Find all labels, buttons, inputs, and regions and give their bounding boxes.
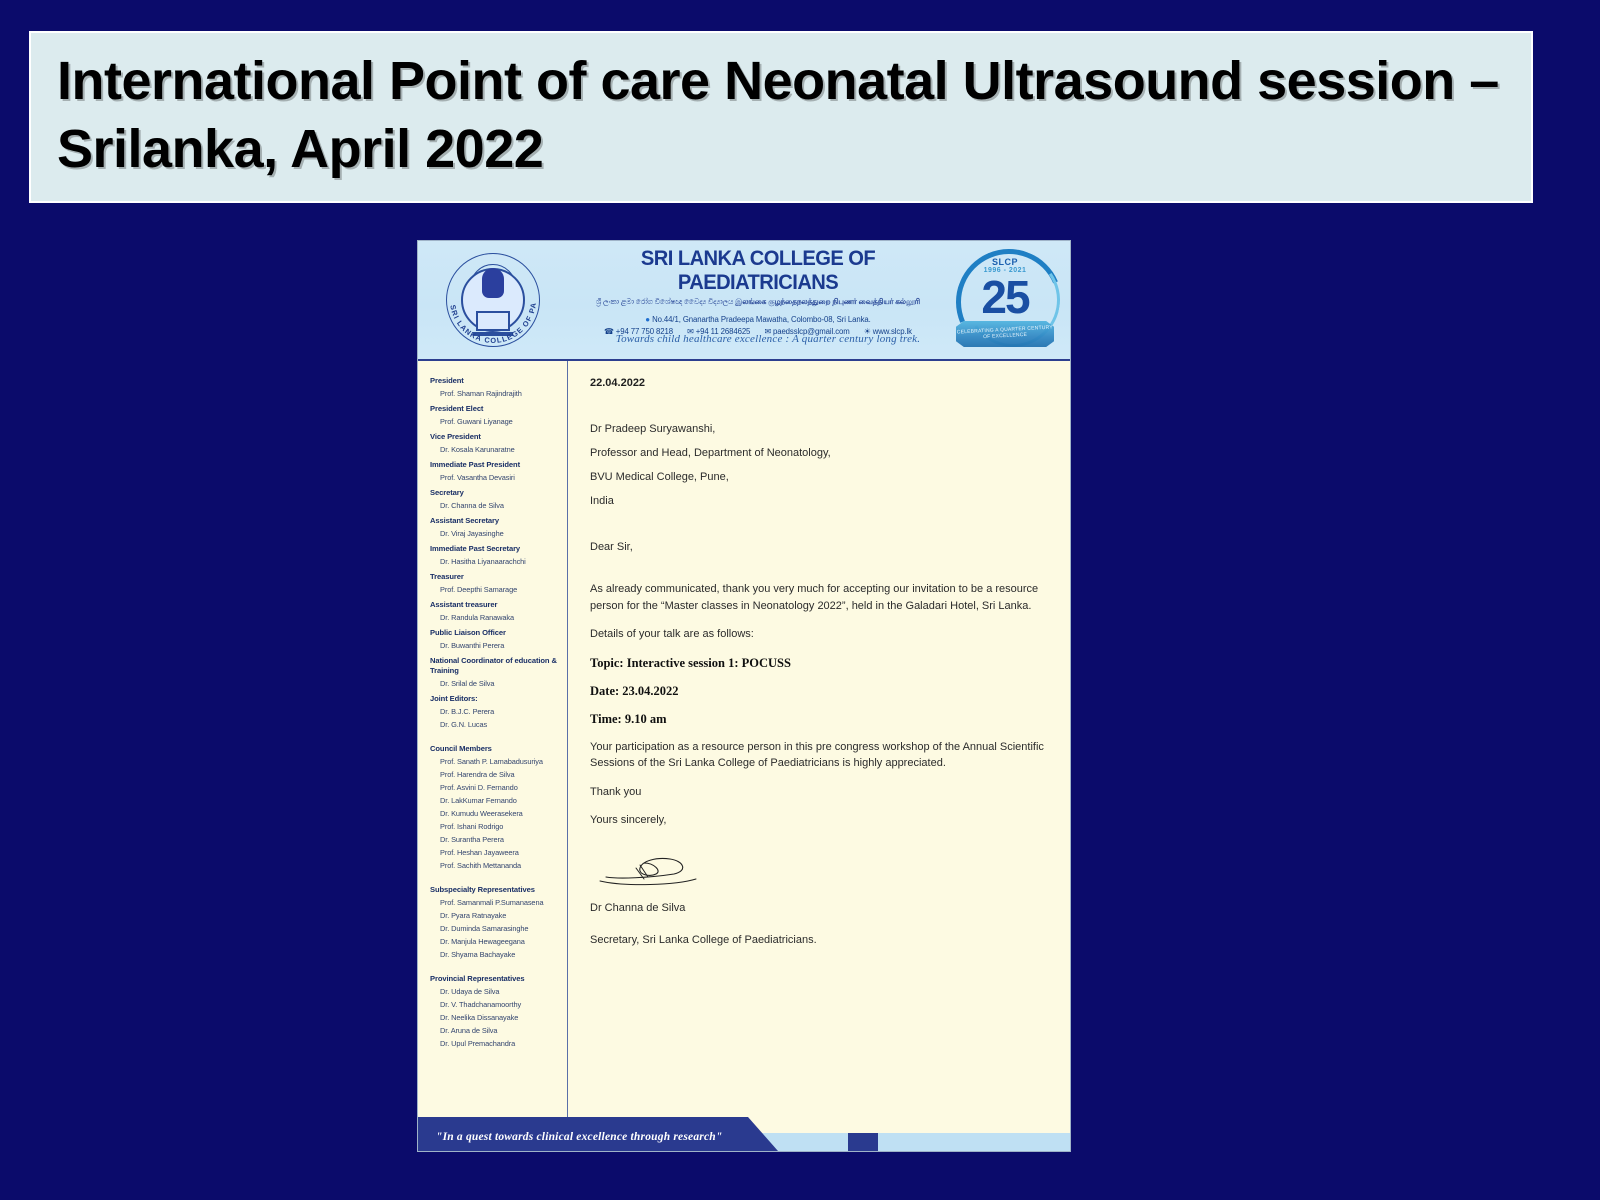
joint-editors-title: Joint Editors:: [430, 694, 561, 704]
letter-salutation: Dear Sir,: [590, 535, 1044, 559]
officer-entry: National Coordinator of education & Trai…: [430, 656, 561, 689]
office-bearers-sidebar: President Prof. Shaman Rajindrajith Pres…: [418, 361, 568, 1129]
council-member-name: Prof. Sanath P. Lamabadusuriya: [430, 757, 561, 767]
signature-image: [590, 841, 1044, 895]
provincial-representative-name: Dr. Udaya de Silva: [430, 987, 561, 997]
officer-entry: President Prof. Shaman Rajindrajith: [430, 376, 561, 399]
officer-role: Public Liaison Officer: [430, 628, 561, 638]
address-text: No.44/1, Gnanartha Pradeepa Mawatha, Col…: [652, 315, 871, 324]
officer-role: Immediate Past Secretary: [430, 544, 561, 554]
letterhead-tagline: Towards child healthcare excellence : A …: [568, 333, 968, 345]
officer-entry: Treasurer Prof. Deepthi Samarage: [430, 572, 561, 595]
council-member-name: Prof. Harendra de Silva: [430, 770, 561, 780]
officer-role: Immediate Past President: [430, 460, 561, 470]
footer-accent-square: [848, 1133, 878, 1151]
officer-name: Dr. Randula Ranawaka: [430, 613, 561, 623]
officer-name: Dr. Channa de Silva: [430, 501, 561, 511]
officer-entry: Assistant Secretary Dr. Viraj Jayasinghe: [430, 516, 561, 539]
council-member-name: Prof. Ishani Rodrigo: [430, 822, 561, 832]
provincial-representative-name: Dr. Neelika Dissanayake: [430, 1013, 561, 1023]
college-emblem-icon: SRI LANKA COLLEGE OF PAEDIATRICIANS: [440, 247, 546, 353]
officer-entry: President Elect Prof. Guwani Liyanage: [430, 404, 561, 427]
officer-entry: Immediate Past Secretary Dr. Hasitha Liy…: [430, 544, 561, 567]
addressee-line: BVU Medical College, Pune,: [590, 465, 1044, 489]
officer-role: National Coordinator of education & Trai…: [430, 656, 561, 676]
letter-document: SRI LANKA COLLEGE OF PAEDIATRICIANS SRI …: [418, 241, 1070, 1151]
joint-editor-name: Dr. B.J.C. Perera: [430, 707, 561, 717]
slide-title-bar: International Point of care Neonatal Ult…: [29, 31, 1533, 203]
letter-body: President Prof. Shaman Rajindrajith Pres…: [418, 361, 1070, 1129]
provincial-representative-name: Dr. Aruna de Silva: [430, 1026, 561, 1036]
council-member-name: Prof. Asvini D. Fernando: [430, 783, 561, 793]
letter-thanks: Thank you: [590, 784, 1044, 801]
subspecialty-representative-name: Dr. Pyara Ratnayake: [430, 911, 561, 921]
addressee-line: Professor and Head, Department of Neonat…: [590, 441, 1044, 465]
officer-role: President: [430, 376, 561, 386]
letterhead-header: SRI LANKA COLLEGE OF PAEDIATRICIANS SRI …: [418, 241, 1070, 361]
signatory-name: Dr Channa de Silva: [590, 899, 1044, 917]
officer-name: Dr. Kosala Karunaratne: [430, 445, 561, 455]
signatory-title: Secretary, Sri Lanka College of Paediatr…: [590, 931, 1044, 949]
officer-name: Dr. Hasitha Liyanaarachchi: [430, 557, 561, 567]
addressee-line: Dr Pradeep Suryawanshi,: [590, 417, 1044, 441]
provincial-representatives-title: Provincial Representatives: [430, 974, 561, 984]
council-member-name: Dr. Surantha Perera: [430, 835, 561, 845]
org-name-native: ශ්‍රී ලංකා ළමා රෝග විශේෂඥ වෛද්‍ය විද්‍යා…: [568, 297, 948, 307]
letter-paragraph-1: As already communicated, thank you very …: [590, 581, 1044, 614]
officer-entry: Vice President Dr. Kosala Karunaratne: [430, 432, 561, 455]
officer-entry: Secretary Dr. Channa de Silva: [430, 488, 561, 511]
emblem-circular-text: SRI LANKA COLLEGE OF PAEDIATRICIANS: [440, 247, 546, 353]
officer-name: Dr. Viraj Jayasinghe: [430, 529, 561, 539]
addressee-line: India: [590, 489, 1044, 513]
officer-entry: Public Liaison Officer Dr. Buwanthi Pere…: [430, 628, 561, 651]
letter-content: 22.04.2022 Dr Pradeep Suryawanshi, Profe…: [568, 361, 1070, 1129]
subspecialty-representative-name: Dr. Manjula Hewageegana: [430, 937, 561, 947]
officer-entry: Assistant treasurer Dr. Randula Ranawaka: [430, 600, 561, 623]
letterhead-org-block: SRI LANKA COLLEGE OF PAEDIATRICIANS ශ්‍ර…: [568, 247, 948, 336]
svg-text:SRI LANKA COLLEGE OF PAEDIATRI: SRI LANKA COLLEGE OF PAEDIATRICIANS: [440, 247, 538, 345]
officer-name: Dr. Buwanthi Perera: [430, 641, 561, 651]
org-name-sinhala: ශ්‍රී ලංකා ළමා රෝග විශේෂඥ වෛද්‍ය විද්‍යා…: [596, 297, 733, 306]
footer-quote: "In a quest towards clinical excellence …: [436, 1131, 722, 1143]
letter-footer: "In a quest towards clinical excellence …: [418, 1117, 1070, 1151]
letter-closing: Yours sincerely,: [590, 812, 1044, 829]
page-title: International Point of care Neonatal Ult…: [57, 47, 1505, 183]
joint-editor-name: Dr. G.N. Lucas: [430, 720, 561, 730]
officer-role: Assistant treasurer: [430, 600, 561, 610]
officer-name: Prof. Deepthi Samarage: [430, 585, 561, 595]
talk-time: Time: 9.10 am: [590, 711, 1044, 727]
officer-name: Prof. Guwani Liyanage: [430, 417, 561, 427]
officer-role: Treasurer: [430, 572, 561, 582]
subspecialty-representatives-title: Subspecialty Representatives: [430, 885, 561, 895]
subspecialty-representative-name: Dr. Shyama Bachayake: [430, 950, 561, 960]
talk-date: Date: 23.04.2022: [590, 683, 1044, 699]
org-name-tamil: இலங்கை குழந்தைநலத்துறை நிபுணர் வைத்தியர்…: [735, 297, 920, 306]
anniversary-logo-icon: SLCP 1996 - 2021 25 CELEBRATING A QUARTE…: [950, 243, 1060, 355]
org-name: SRI LANKA COLLEGE OF PAEDIATRICIANS: [576, 247, 941, 295]
talk-topic: Topic: Interactive session 1: POCUSS: [590, 655, 1044, 671]
officer-role: Assistant Secretary: [430, 516, 561, 526]
anniversary-label: SLCP: [950, 257, 1060, 267]
letterhead-address-line: ● No.44/1, Gnanartha Pradeepa Mawatha, C…: [568, 315, 948, 324]
anniversary-number: 25: [950, 270, 1060, 324]
provincial-representative-name: Dr. Upul Premachandra: [430, 1039, 561, 1049]
officer-entry: Immediate Past President Prof. Vasantha …: [430, 460, 561, 483]
council-members-title: Council Members: [430, 744, 561, 754]
officer-role: Secretary: [430, 488, 561, 498]
officer-role: Vice President: [430, 432, 561, 442]
council-member-name: Prof. Heshan Jayaweera: [430, 848, 561, 858]
provincial-representative-name: Dr. V. Thadchanamoorthy: [430, 1000, 561, 1010]
officer-name: Prof. Vasantha Devasiri: [430, 473, 561, 483]
footer-light-band: [758, 1133, 1070, 1151]
officer-name: Prof. Shaman Rajindrajith: [430, 389, 561, 399]
subspecialty-representative-name: Dr. Duminda Samarasinghe: [430, 924, 561, 934]
council-member-name: Prof. Sachith Mettananda: [430, 861, 561, 871]
letter-paragraph-3: Your participation as a resource person …: [590, 739, 1044, 772]
officer-role: President Elect: [430, 404, 561, 414]
letter-paragraph-2: Details of your talk are as follows:: [590, 626, 1044, 643]
letter-date: 22.04.2022: [590, 377, 1044, 389]
council-member-name: Dr. Kumudu Weerasekera: [430, 809, 561, 819]
officer-name: Dr. Srilal de Silva: [430, 679, 561, 689]
council-member-name: Dr. LakKumar Fernando: [430, 796, 561, 806]
location-pin-icon: ●: [645, 315, 650, 324]
subspecialty-representative-name: Prof. Samanmali P.Sumanasena: [430, 898, 561, 908]
